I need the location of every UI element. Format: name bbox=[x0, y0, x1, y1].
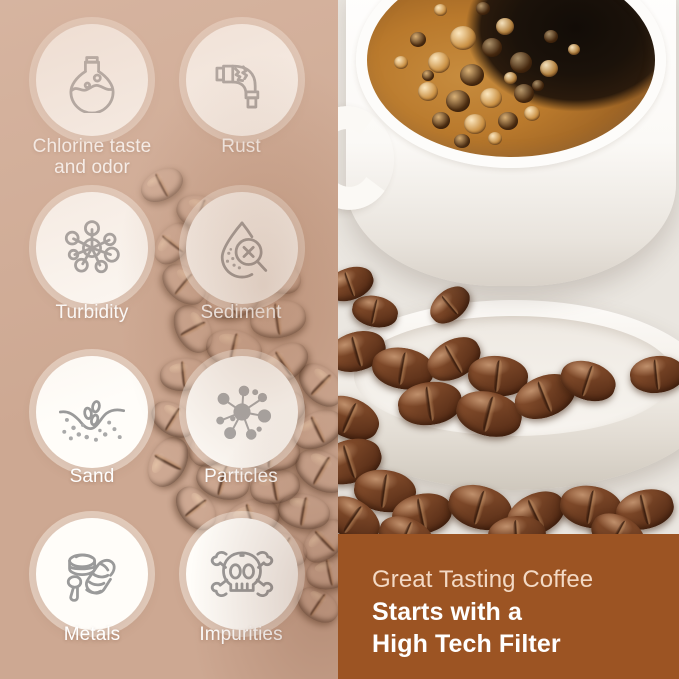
label-line-1: Impurities bbox=[199, 624, 282, 645]
contaminant-chip-rust[interactable] bbox=[186, 24, 298, 136]
contaminant-chip-sand[interactable] bbox=[36, 356, 148, 468]
contaminant-label-chlorine: Chlorine taste and odor bbox=[12, 136, 172, 179]
contaminant-label-turbidity: Turbidity bbox=[12, 302, 172, 323]
tagline-line-3: High Tech Filter bbox=[372, 629, 679, 661]
contaminant-label-sediment: Sediment bbox=[161, 302, 321, 323]
product-feature-poster: Chlorine taste and odor Rust bbox=[0, 0, 679, 679]
contaminant-label-impurities: Impurities bbox=[161, 624, 321, 645]
label-line-1: Particles bbox=[204, 466, 278, 487]
label-line-1: Metals bbox=[64, 624, 121, 645]
label-line-2: and odor bbox=[54, 157, 130, 178]
crushed-cans-icon bbox=[59, 541, 125, 607]
contaminants-panel: Chlorine taste and odor Rust bbox=[0, 0, 338, 679]
tagline-line-1: Great Tasting Coffee bbox=[372, 566, 679, 594]
pipe-elbow-icon bbox=[209, 47, 275, 113]
label-line-1: Sediment bbox=[200, 302, 281, 323]
tagline-line-2: Starts with a bbox=[372, 597, 679, 629]
coffee-cup bbox=[346, 0, 676, 286]
skull-crossbones-icon bbox=[209, 541, 275, 607]
contaminant-chip-metals[interactable] bbox=[36, 518, 148, 630]
molecule-outline-icon bbox=[59, 215, 125, 281]
label-line-1: Chlorine taste bbox=[33, 136, 152, 157]
contaminant-chip-sediment[interactable] bbox=[186, 192, 298, 304]
label-line-1: Sand bbox=[70, 466, 115, 487]
contaminant-chip-impurities[interactable] bbox=[186, 518, 298, 630]
contaminant-chip-chlorine[interactable] bbox=[36, 24, 148, 136]
contaminant-label-sand: Sand bbox=[12, 466, 172, 487]
molecule-filled-icon bbox=[209, 379, 275, 445]
contaminant-label-metals: Metals bbox=[12, 624, 172, 645]
flask-icon bbox=[59, 47, 125, 113]
droplet-magnifier-x-icon bbox=[209, 215, 275, 281]
sand-dune-icon bbox=[59, 379, 125, 445]
label-line-1: Rust bbox=[221, 136, 260, 157]
tagline-panel: Great Tasting Coffee Starts with a High … bbox=[338, 534, 679, 679]
contaminant-label-particles: Particles bbox=[161, 466, 321, 487]
contaminant-label-rust: Rust bbox=[161, 136, 321, 157]
label-line-1: Turbidity bbox=[55, 302, 128, 323]
contaminant-chip-turbidity[interactable] bbox=[36, 192, 148, 304]
contaminant-chip-particles[interactable] bbox=[186, 356, 298, 468]
